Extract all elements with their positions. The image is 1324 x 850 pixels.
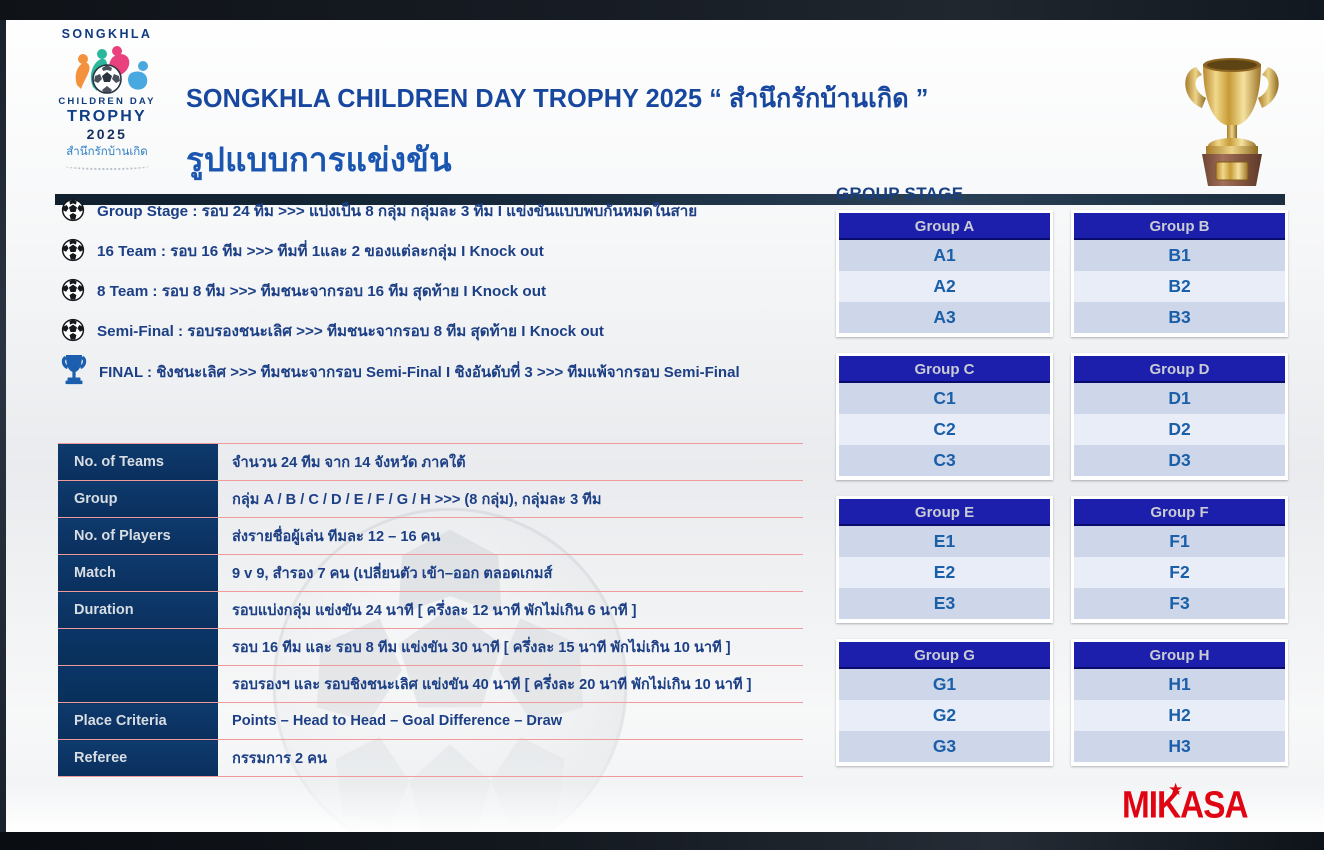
logo-line-songkhla: SONGKHLA	[48, 28, 166, 41]
info-row-value: 9 v 9, สำรอง 7 คน (เปลี่ยนตัว เข้า–ออก ต…	[218, 555, 803, 592]
gold-trophy-icon	[1176, 42, 1288, 190]
info-row-label: No. of Players	[58, 518, 218, 555]
header: SONGKHLA CHILDREN DAY	[0, 20, 1324, 180]
group-slot-cell[interactable]: A1	[839, 240, 1050, 271]
group-slot-cell[interactable]: F2	[1074, 557, 1285, 588]
bullet-text: Semi-Final : รอบรองชนะเลิศ >>> ทีมชนะจาก…	[97, 319, 604, 343]
info-row-label: Place Criteria	[58, 703, 218, 740]
soccer-ball-icon	[61, 318, 85, 342]
info-row-value: กรรมการ 2 คน	[218, 740, 803, 777]
bullet-row: Group Stage : รอบ 24 ทีม >>> แบ่งเป็น 8 …	[55, 192, 845, 232]
info-row-label: Match	[58, 555, 218, 592]
mikasa-wordmark: MIKASA	[1122, 786, 1279, 824]
group-card-header: Group H	[1074, 642, 1285, 669]
info-row-value: กลุ่ม A / B / C / D / E / F / G / H >>> …	[218, 481, 803, 518]
group-card-header: Group E	[839, 499, 1050, 526]
page-title-thai: รูปแบบการแข่งขัน	[186, 133, 452, 186]
info-row-label: No. of Teams	[58, 444, 218, 481]
group-slot-cell[interactable]: G3	[839, 731, 1050, 762]
group-card-header: Group D	[1074, 356, 1285, 383]
group-card: Group GG1G2G3	[836, 639, 1053, 766]
soccer-ball-icon	[61, 198, 85, 222]
children-soccer-logo-icon	[57, 43, 157, 95]
group-slot-cell[interactable]: E2	[839, 557, 1050, 588]
info-row-value: รอบแบ่งกลุ่ม แข่งขัน 24 นาที [ ครึ่งละ 1…	[218, 592, 803, 629]
info-row-label: Group	[58, 481, 218, 518]
table-row: รอบรองฯ และ รอบชิงชนะเลิศ แข่งขัน 40 นาท…	[58, 666, 803, 703]
info-row-label	[58, 629, 218, 666]
info-row-value: รอบ 16 ทีม และ รอบ 8 ทีม แข่งขัน 30 นาที…	[218, 629, 803, 666]
group-slot-cell[interactable]: B2	[1074, 271, 1285, 302]
top-decorative-bar	[0, 0, 1324, 20]
table-row: Place CriteriaPoints – Head to Head – Go…	[58, 703, 803, 740]
group-slot-cell[interactable]: D3	[1074, 445, 1285, 476]
info-row-value: ส่งรายชื่อผู้เล่น ทีมละ 12 – 16 คน	[218, 518, 803, 555]
group-card-header: Group C	[839, 356, 1050, 383]
info-row-value: จำนวน 24 ทีม จาก 14 จังหวัด ภาคใต้	[218, 444, 803, 481]
group-slot-cell[interactable]: D2	[1074, 414, 1285, 445]
group-stage-title: GROUP STAGE	[836, 184, 1288, 204]
logo-line-year: 2025	[48, 126, 166, 142]
bottom-decorative-bar	[0, 832, 1324, 850]
group-card: Group AA1A2A3	[836, 210, 1053, 337]
bullet-row: 16 Team : รอบ 16 ทีม >>> ทีมที่ 1และ 2 ข…	[55, 232, 845, 272]
info-row-value: Points – Head to Head – Goal Difference …	[218, 703, 803, 740]
logo-line-trophy: TROPHY	[48, 109, 166, 125]
slide-background: SONGKHLA CHILDREN DAY	[0, 0, 1324, 850]
tournament-info-table: No. of Teamsจำนวน 24 ทีม จาก 14 จังหวัด …	[58, 443, 803, 777]
info-row-label: Referee	[58, 740, 218, 777]
bullet-row: 8 Team : รอบ 8 ทีม >>> ทีมชนะจากรอบ 16 ท…	[55, 272, 845, 312]
format-bullet-list: Group Stage : รอบ 24 ทีม >>> แบ่งเป็น 8 …	[55, 192, 845, 392]
table-row: Refereeกรรมการ 2 คน	[58, 740, 803, 777]
info-row-label	[58, 666, 218, 703]
bullet-text: FINAL : ชิงชนะเลิศ >>> ทีมชนะจากรอบ Semi…	[99, 360, 740, 384]
group-slot-cell[interactable]: C1	[839, 383, 1050, 414]
bullet-text: 16 Team : รอบ 16 ทีม >>> ทีมที่ 1และ 2 ข…	[97, 239, 544, 263]
info-row-value: รอบรองฯ และ รอบชิงชนะเลิศ แข่งขัน 40 นาท…	[218, 666, 803, 703]
group-slot-cell[interactable]: A3	[839, 302, 1050, 333]
logo-line-thai-slogan: สำนึกรักบ้านเกิด	[48, 143, 166, 161]
logo-swoosh-decoration	[64, 162, 150, 170]
group-slot-cell[interactable]: A2	[839, 271, 1050, 302]
group-card: Group HH1H2H3	[1071, 639, 1288, 766]
group-slot-cell[interactable]: E1	[839, 526, 1050, 557]
group-slot-cell[interactable]: G1	[839, 669, 1050, 700]
group-card-header: Group G	[839, 642, 1050, 669]
table-row: รอบ 16 ทีม และ รอบ 8 ทีม แข่งขัน 30 นาที…	[58, 629, 803, 666]
table-row: No. of Teamsจำนวน 24 ทีม จาก 14 จังหวัด …	[58, 444, 803, 481]
group-slot-cell[interactable]: B1	[1074, 240, 1285, 271]
group-card-header: Group F	[1074, 499, 1285, 526]
group-slot-cell[interactable]: H2	[1074, 700, 1285, 731]
group-card: Group DD1D2D3	[1071, 353, 1288, 480]
logo-line-children-day: CHILDREN DAY	[48, 97, 166, 107]
group-card: Group CC1C2C3	[836, 353, 1053, 480]
bullet-text: Group Stage : รอบ 24 ทีม >>> แบ่งเป็น 8 …	[97, 199, 697, 223]
group-card: Group FF1F2F3	[1071, 496, 1288, 623]
bullet-text: 8 Team : รอบ 8 ทีม >>> ทีมชนะจากรอบ 16 ท…	[97, 279, 546, 303]
group-card: Group EE1E2E3	[836, 496, 1053, 623]
group-stage-panel: GROUP STAGE Group AA1A2A3Group BB1B2B3Gr…	[836, 184, 1288, 766]
group-slot-cell[interactable]: F1	[1074, 526, 1285, 557]
group-slot-cell[interactable]: F3	[1074, 588, 1285, 619]
group-slot-cell[interactable]: H3	[1074, 731, 1285, 762]
bullet-row: FINAL : ชิงชนะเลิศ >>> ทีมชนะจากรอบ Semi…	[55, 352, 845, 392]
soccer-ball-icon	[61, 278, 85, 302]
soccer-ball-icon	[61, 238, 85, 262]
table-row: Durationรอบแบ่งกลุ่ม แข่งขัน 24 นาที [ ค…	[58, 592, 803, 629]
trophy-icon	[61, 353, 87, 385]
group-slot-cell[interactable]: B3	[1074, 302, 1285, 333]
table-row: Groupกลุ่ม A / B / C / D / E / F / G / H…	[58, 481, 803, 518]
table-row: No. of Playersส่งรายชื่อผู้เล่น ทีมละ 12…	[58, 518, 803, 555]
group-cards-grid: Group AA1A2A3Group BB1B2B3Group CC1C2C3G…	[836, 210, 1288, 766]
group-slot-cell[interactable]: D1	[1074, 383, 1285, 414]
group-slot-cell[interactable]: C3	[839, 445, 1050, 476]
info-row-label: Duration	[58, 592, 218, 629]
tournament-logo: SONGKHLA CHILDREN DAY	[48, 28, 166, 180]
mikasa-logo-icon: ★ MIKASA	[1122, 786, 1282, 826]
page-title-english: SONGKHLA CHILDREN DAY TROPHY 2025 “ สำนึ…	[186, 78, 928, 119]
group-card-header: Group A	[839, 213, 1050, 240]
group-card-header: Group B	[1074, 213, 1285, 240]
bullet-row: Semi-Final : รอบรองชนะเลิศ >>> ทีมชนะจาก…	[55, 312, 845, 352]
table-row: Match9 v 9, สำรอง 7 คน (เปลี่ยนตัว เข้า–…	[58, 555, 803, 592]
group-card: Group BB1B2B3	[1071, 210, 1288, 337]
group-slot-cell[interactable]: H1	[1074, 669, 1285, 700]
group-slot-cell[interactable]: G2	[839, 700, 1050, 731]
group-slot-cell[interactable]: C2	[839, 414, 1050, 445]
group-slot-cell[interactable]: E3	[839, 588, 1050, 619]
